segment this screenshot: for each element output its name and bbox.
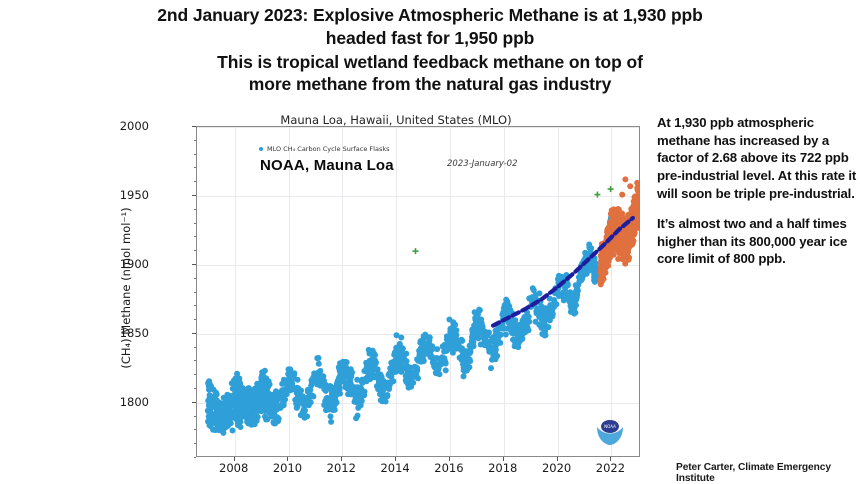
data-point-flask <box>235 380 241 386</box>
data-point-flask <box>249 388 255 394</box>
data-point-flask <box>280 391 286 397</box>
data-point-recent <box>617 243 623 249</box>
data-point-flask <box>224 392 230 398</box>
data-point-flask <box>316 361 322 367</box>
x-axis-tick-label: 2022 <box>580 461 640 475</box>
data-point-flask <box>294 405 300 411</box>
x-axis-tick-label: 2018 <box>473 461 533 475</box>
headline-line-4: more methane from the natural gas indust… <box>70 73 790 96</box>
data-point-flask <box>424 351 430 357</box>
data-point-flask <box>394 332 400 338</box>
data-point-flask <box>207 392 213 398</box>
data-point-flask <box>507 326 513 332</box>
data-point-recent <box>619 192 625 198</box>
data-point-flask <box>477 307 483 313</box>
data-point-flask <box>292 397 298 403</box>
data-point-flask <box>272 395 278 401</box>
chart-title: Mauna Loa, Hawaii, United States (MLO) <box>140 113 652 127</box>
data-point-flask <box>218 405 224 411</box>
headline-line-3: This is tropical wetland feedback methan… <box>70 51 790 74</box>
data-point-recent <box>605 225 611 231</box>
data-point-flask <box>212 399 218 405</box>
data-point-recent <box>627 183 633 189</box>
x-axis-tick-label: 2010 <box>257 461 317 475</box>
data-point-recent <box>624 248 630 254</box>
data-point-flask <box>444 348 450 354</box>
data-point-flask <box>233 408 239 414</box>
data-point-recent <box>633 222 639 228</box>
data-point-recent <box>604 248 610 254</box>
commentary-paragraph-1: At 1,930 ppb atmospheric methane has inc… <box>657 114 857 202</box>
data-point-flask <box>545 324 551 330</box>
data-point-flask <box>491 353 497 359</box>
data-point-recent <box>610 244 616 250</box>
headline-line-2: headed fast for 1,950 ppb <box>70 27 790 50</box>
data-point-flask <box>380 386 386 392</box>
data-point-flask <box>542 305 548 311</box>
data-point-flask <box>390 365 396 371</box>
data-point-recent <box>634 205 640 211</box>
data-point-recent <box>628 206 634 212</box>
data-point-flask <box>286 366 292 372</box>
x-axis-tick <box>503 457 504 461</box>
data-point-flask <box>533 292 539 298</box>
data-point-flask <box>310 374 316 380</box>
data-point-flask <box>520 319 526 325</box>
data-point-flask <box>316 355 322 361</box>
data-point-flask <box>536 314 542 320</box>
data-point-flask <box>416 348 422 354</box>
data-point-flask <box>464 351 470 357</box>
data-point-flask <box>342 367 348 373</box>
data-point-flask <box>558 274 564 280</box>
x-axis-tick <box>234 457 235 461</box>
data-point-flask <box>234 371 240 377</box>
data-point-recent <box>598 254 604 260</box>
data-point-flask <box>483 337 489 343</box>
data-point-flask <box>569 299 575 305</box>
data-point-flask <box>535 306 541 312</box>
commentary-block: At 1,930 ppb atmospheric methane has inc… <box>657 114 857 268</box>
legend-label: MLO CH₄ Carbon Cycle Surface Flasks <box>267 145 389 153</box>
data-point-flask <box>450 350 456 356</box>
data-point-flask <box>359 398 365 404</box>
data-point-flask <box>251 395 257 401</box>
y-axis-tick-label: 1950 <box>89 188 149 202</box>
data-point-flask <box>404 371 410 377</box>
scatter-points <box>197 127 640 457</box>
data-point-flask <box>281 399 287 405</box>
data-point-flask <box>407 365 413 371</box>
data-point-flask <box>506 303 512 309</box>
legend-marker-icon <box>259 147 263 151</box>
data-point-flask <box>399 349 405 355</box>
data-point-flask <box>470 339 476 345</box>
data-point-flask <box>367 375 373 381</box>
data-point-flask <box>207 422 213 428</box>
data-point-recent <box>626 257 632 263</box>
data-point-flask <box>431 363 437 369</box>
data-point-flask <box>461 373 467 379</box>
data-point-flask <box>323 407 329 413</box>
data-point-recent <box>598 268 604 274</box>
data-point-flask <box>389 359 395 365</box>
data-point-flask <box>264 382 270 388</box>
data-point-flask <box>575 282 581 288</box>
data-point-flask <box>308 399 314 405</box>
y-axis-tick-label: 1900 <box>89 257 149 271</box>
y-axis-tick-label: 2000 <box>89 119 149 133</box>
data-point-outlier <box>608 186 614 192</box>
data-point-flask <box>593 260 599 266</box>
data-point-flask <box>433 370 439 376</box>
data-point-recent <box>611 206 617 212</box>
plot-area: MLO CH₄ Carbon Cycle Surface Flasks NOAA… <box>196 126 640 457</box>
data-point-flask <box>442 361 448 367</box>
data-point-flask <box>543 332 549 338</box>
data-point-flask <box>439 354 445 360</box>
data-point-flask <box>207 381 213 387</box>
page-title: 2nd January 2023: Explosive Atmospheric … <box>70 4 790 96</box>
data-point-flask <box>319 373 325 379</box>
data-point-flask <box>235 420 241 426</box>
data-point-flask <box>295 386 301 392</box>
x-axis-tick <box>557 457 558 461</box>
data-point-flask <box>261 376 267 382</box>
y-axis-tick-label: 1800 <box>89 395 149 409</box>
svg-text:NOAA: NOAA <box>604 424 616 429</box>
data-point-flask <box>262 368 268 374</box>
data-point-flask <box>478 316 484 322</box>
data-point-flask <box>536 322 542 328</box>
data-point-flask <box>241 398 247 404</box>
data-point-flask <box>560 289 566 295</box>
methane-chart: Mauna Loa, Hawaii, United States (MLO) (… <box>140 112 652 472</box>
data-point-flask <box>450 333 456 339</box>
x-axis-tick-label: 2014 <box>365 461 425 475</box>
y-axis-tick-label: 1850 <box>89 326 149 340</box>
slide-root: 2nd January 2023: Explosive Atmospheric … <box>0 0 860 484</box>
data-point-flask <box>407 384 413 390</box>
data-point-flask <box>265 416 271 422</box>
data-point-flask <box>230 395 236 401</box>
data-point-flask <box>426 337 432 343</box>
data-point-flask <box>255 414 261 420</box>
x-axis-tick <box>449 457 450 461</box>
data-point-flask <box>214 391 220 397</box>
data-point-flask <box>455 342 461 348</box>
commentary-paragraph-2: It’s almost two and a half times higher … <box>657 215 857 268</box>
data-point-flask <box>421 358 427 364</box>
data-point-flask <box>267 405 273 411</box>
data-point-flask <box>263 400 269 406</box>
data-point-flask <box>450 319 456 325</box>
data-point-flask <box>339 374 345 380</box>
data-point-outlier <box>594 192 600 198</box>
data-point-flask <box>225 405 231 411</box>
x-axis-tick <box>395 457 396 461</box>
data-point-flask <box>329 387 335 393</box>
data-point-flask <box>349 370 355 376</box>
chart-legend: MLO CH₄ Carbon Cycle Surface Flasks <box>259 145 389 153</box>
commentary-spacer <box>657 202 857 215</box>
data-point-flask <box>309 392 315 398</box>
data-point-flask <box>443 367 449 373</box>
data-point-outlier <box>413 248 419 254</box>
data-point-flask <box>358 391 364 397</box>
y-axis-label: (CH₄) Methane (nmol mol⁻¹) <box>119 207 133 368</box>
data-point-flask <box>230 428 236 434</box>
data-point-flask <box>477 327 483 333</box>
data-point-flask <box>328 419 334 425</box>
data-point-flask <box>289 373 295 379</box>
data-point-flask <box>299 398 305 404</box>
data-point-flask <box>463 366 469 372</box>
x-axis-tick-label: 2020 <box>527 461 587 475</box>
station-label: NOAA, Mauna Loa <box>260 157 394 174</box>
data-point-recent <box>623 240 629 246</box>
data-point-flask <box>372 352 378 358</box>
data-point-flask <box>383 399 389 405</box>
data-point-flask <box>588 245 594 251</box>
data-point-flask <box>353 415 359 421</box>
data-point-flask <box>393 345 399 351</box>
data-point-flask <box>343 384 349 390</box>
x-axis-tick <box>287 457 288 461</box>
data-point-flask <box>488 365 494 371</box>
data-point-flask <box>255 404 261 410</box>
data-point-flask <box>403 377 409 383</box>
data-point-recent <box>632 194 638 200</box>
data-point-flask <box>386 372 392 378</box>
chart-datestamp: 2023-January-02 <box>447 159 518 169</box>
data-point-flask <box>397 364 403 370</box>
data-point-flask <box>415 358 421 364</box>
data-point-flask <box>367 358 373 364</box>
data-point-flask <box>413 370 419 376</box>
data-point-flask <box>530 285 536 291</box>
data-point-flask <box>570 292 576 298</box>
data-point-flask <box>366 351 372 357</box>
data-point-flask <box>494 337 500 343</box>
x-axis-tick-label: 2016 <box>419 461 479 475</box>
data-point-flask <box>238 414 244 420</box>
data-point-flask <box>328 413 334 419</box>
data-point-flask <box>551 297 557 303</box>
data-point-recent <box>620 255 626 261</box>
x-axis-tick <box>341 457 342 461</box>
data-point-flask <box>434 346 440 352</box>
data-point-flask <box>584 271 590 277</box>
data-point-flask <box>247 406 253 412</box>
data-point-recent <box>599 279 605 285</box>
data-point-flask <box>459 355 465 361</box>
x-axis-tick-label: 2012 <box>311 461 371 475</box>
data-point-flask <box>301 411 307 417</box>
data-point-flask <box>568 309 574 315</box>
data-point-flask <box>561 297 567 303</box>
x-axis-tick <box>610 457 611 461</box>
data-point-flask <box>205 398 211 404</box>
data-point-flask <box>231 401 237 407</box>
data-point-flask <box>375 366 381 372</box>
data-point-flask <box>257 386 263 392</box>
data-point-flask <box>503 332 509 338</box>
data-point-flask <box>413 364 419 370</box>
data-point-flask <box>230 414 236 420</box>
data-point-flask <box>245 393 251 399</box>
data-point-flask <box>550 311 556 317</box>
y-axis-minor-tick <box>194 457 196 458</box>
data-point-flask <box>218 416 224 422</box>
x-axis-tick-label: 2008 <box>204 461 264 475</box>
data-point-flask <box>384 392 390 398</box>
data-point-recent <box>601 263 607 269</box>
data-point-recent <box>622 176 628 182</box>
data-point-flask <box>514 339 520 345</box>
data-point-flask <box>376 379 382 385</box>
data-point-flask <box>287 384 293 390</box>
data-point-flask <box>518 325 524 331</box>
headline-line-1: 2nd January 2023: Explosive Atmospheric … <box>70 4 790 27</box>
data-point-flask <box>466 358 472 364</box>
data-point-flask <box>279 381 285 387</box>
data-point-flask <box>349 383 355 389</box>
noaa-logo-icon: NOAA <box>595 418 625 446</box>
data-point-flask <box>453 327 459 333</box>
data-point-flask <box>249 422 255 428</box>
data-point-recent <box>634 180 640 186</box>
credit-line: Peter Carter, Climate Emergency Institut… <box>676 462 860 484</box>
data-point-flask <box>267 410 273 416</box>
data-point-flask <box>421 335 427 341</box>
data-point-flask <box>209 413 215 419</box>
data-point-flask <box>500 309 506 315</box>
data-point-flask <box>222 425 228 431</box>
data-point-flask <box>254 381 260 387</box>
data-point-flask <box>330 402 336 408</box>
data-point-flask <box>273 416 279 422</box>
data-point-recent <box>612 219 618 225</box>
data-point-recent <box>606 254 612 260</box>
